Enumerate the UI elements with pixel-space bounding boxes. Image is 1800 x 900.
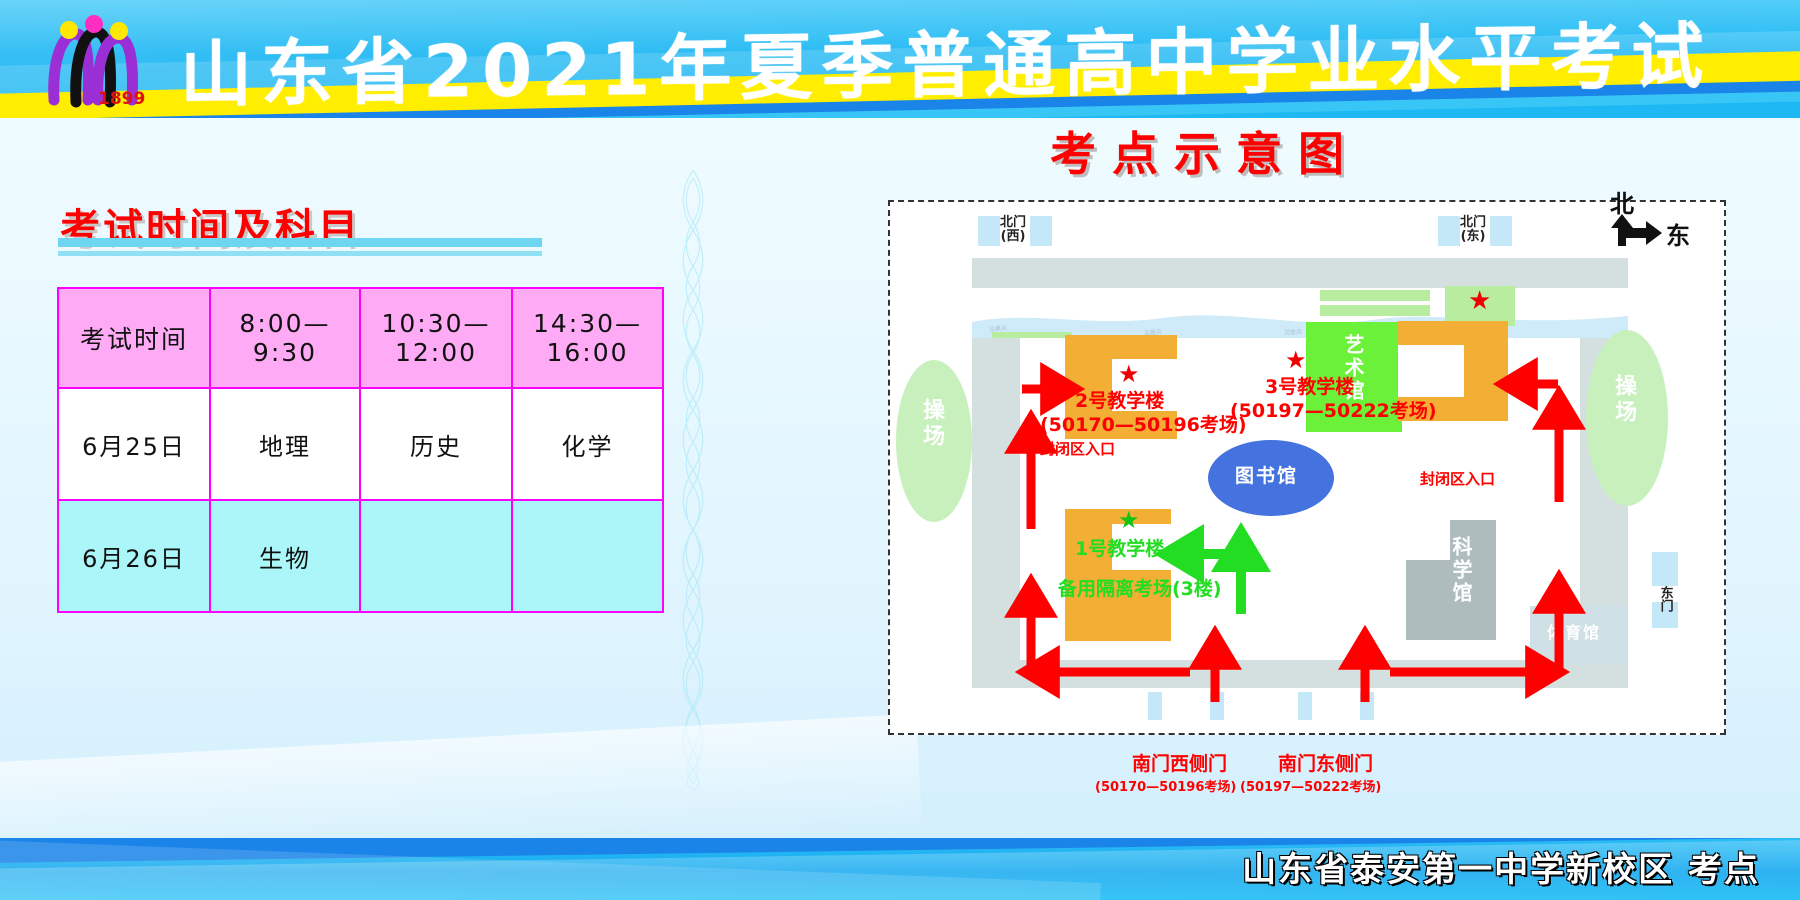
poster-title: 山东省2021年夏季普通高中学业水平考试 [180,0,1780,118]
map-label-entry-west: 封闭区入口 [1040,442,1115,458]
poster-root: 1899 山东省2021年夏季普通高中学业水平考试 考试时间及科目 考试时间 8… [0,0,1800,900]
school-logo: 1899 [36,12,156,108]
table-header-cell: 14:30—16:00 [512,288,663,388]
decorative-chain-divider [678,170,708,790]
south-gate-east-label: 南门东侧门 [1278,755,1373,775]
south-gate-west-label: 南门西侧门 [1132,755,1227,775]
table-header-cell: 考试时间 [58,288,210,388]
table-cell-subject [360,500,512,612]
south-gate-east-rooms: (50197—50222考场) [1240,781,1381,795]
table-cell-subject [512,500,663,612]
map-heading: 考点示意图 [1050,118,1360,184]
logo-year-text: 1899 [98,89,145,108]
map-label-entry-east: 封闭区入口 [1420,472,1495,488]
table-cell-date: 6月25日 [58,388,210,500]
table-row: 6月25日 地理 历史 化学 [58,388,663,500]
map-arrow-layer [890,202,1724,733]
table-row: 6月26日 生物 [58,500,663,612]
heading-underline-thick [58,238,542,247]
table-cell-subject: 历史 [360,388,512,500]
south-gate-west-rooms: (50170—50196考场) [1095,781,1236,795]
table-cell-date: 6月26日 [58,500,210,612]
footer-venue-name: 山东省泰安第一中学新校区 考点 [1242,842,1760,891]
compass-east-label: 东 [1666,222,1690,250]
table-header-cell: 8:00—9:30 [210,288,360,388]
exam-schedule-table: 考试时间 8:00—9:30 10:30—12:00 14:30—16:00 6… [57,287,664,613]
table-cell-subject: 地理 [210,388,360,500]
poster-header: 1899 山东省2021年夏季普通高中学业水平考试 [0,0,1800,118]
poster-footer: 山东省泰安第一中学新校区 考点 [0,838,1800,900]
table-cell-subject: 生物 [210,500,360,612]
heading-underline-thin [58,251,542,256]
table-cell-subject: 化学 [512,388,663,500]
campus-map: 风景区 风景区 风景区 风景区 ★ 操场 操场 ★ 2号教学楼 (50170—5… [888,200,1726,735]
table-header-row: 考试时间 8:00—9:30 10:30—12:00 14:30—16:00 [58,288,663,388]
compass-north-label: 北 [1610,190,1634,218]
table-header-cell: 10:30—12:00 [360,288,512,388]
